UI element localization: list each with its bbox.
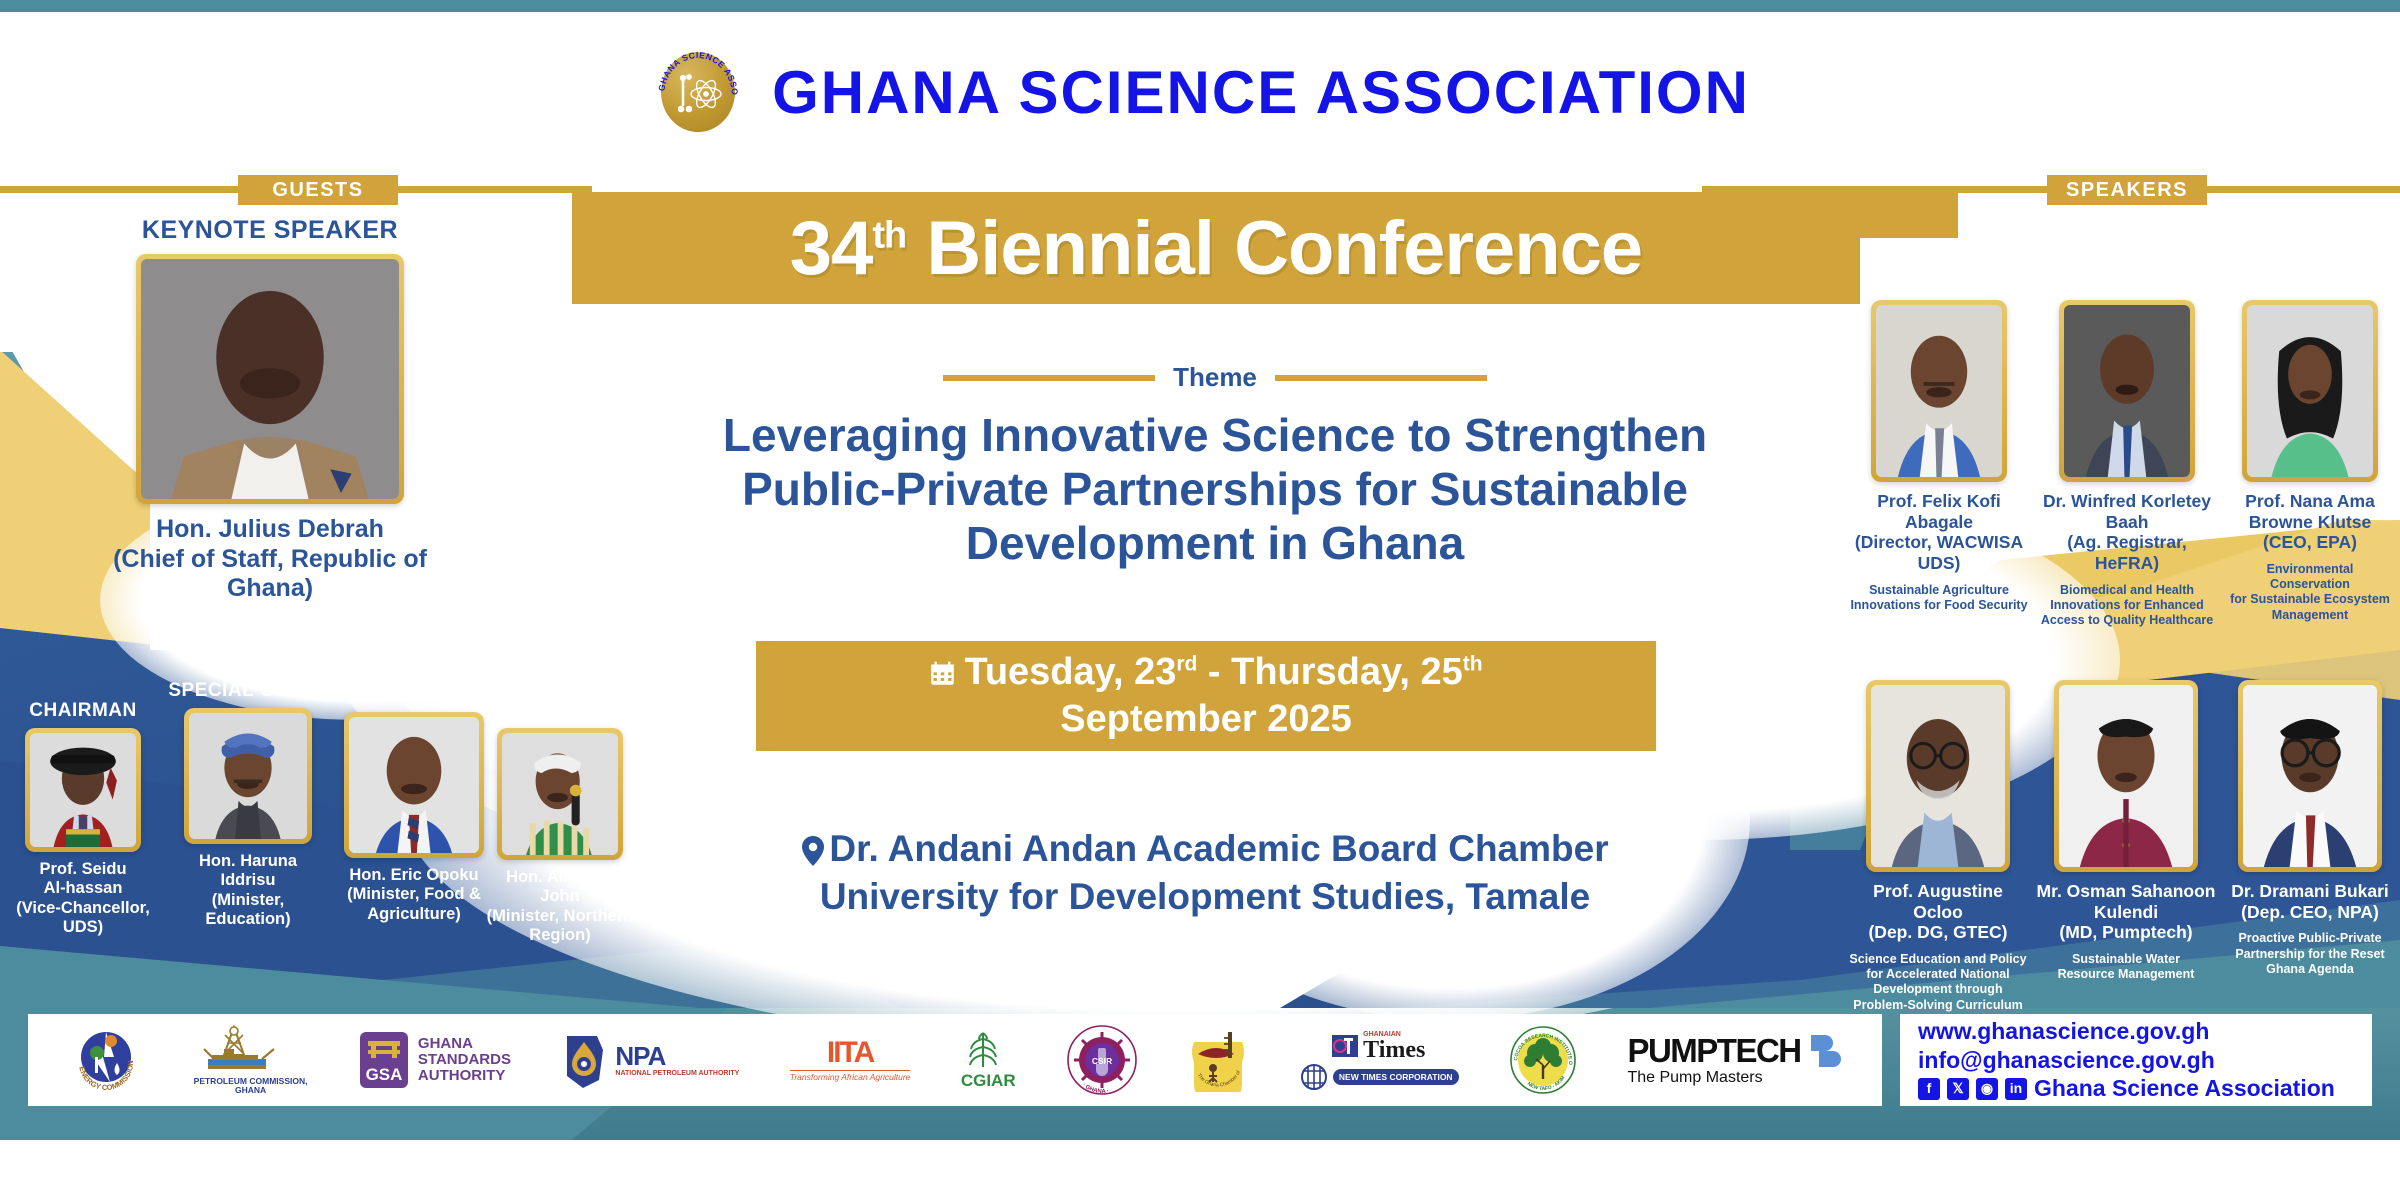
guest-name: Hon. Ali Adolf John (Minister, Northern … [478, 868, 642, 946]
speaker-topic: Science Education and Policy for Acceler… [1848, 952, 2028, 1013]
event-date: Tuesday, 23rd - Thursday, 25th September… [929, 649, 1482, 744]
speaker-topic-line1: Science Education and Policy [1848, 952, 2028, 967]
sponsor-logo-strip: ENERGY COMMISSION PETROLEUM COMMISSION, [28, 1014, 1882, 1106]
speaker-topic-line1: Environmental Conservation [2226, 562, 2394, 593]
speaker-photo-frame [2054, 680, 2198, 872]
speaker-topic-line3: Ghana Agenda [2224, 962, 2396, 977]
theme-line-3: Development in Ghana [660, 517, 1770, 571]
social-handle: Ghana Science Association [2034, 1074, 2335, 1103]
speaker-card-6: Dr. Dramani Bukari (Dep. CEO, NPA) Proac… [2224, 680, 2396, 977]
speaker-topic-line4: Problem-Solving Curriculum [1848, 998, 2028, 1013]
guest-name-line2: John [478, 887, 642, 906]
pumptech-mark-icon [1807, 1033, 1841, 1067]
guest-tag: SPECIAL GUEST [326, 684, 502, 706]
speaker-name-line1: Prof. Augustine [1848, 881, 2028, 902]
sponsor-logo-new-times-corporation: GHANAIAN Times NEW TIMES CORPORATION [1299, 1031, 1459, 1090]
pumptech-tagline: The Pump Masters [1627, 1069, 1840, 1087]
theme-rule-right [1275, 375, 1487, 381]
conference-poster: GHANA SCIENCE ASSOCIATION GHANA SCIENCE … [0, 0, 2400, 1200]
speaker-portrait-6 [2243, 685, 2377, 867]
speaker-photo [2243, 685, 2377, 867]
keynote-photo [141, 259, 399, 499]
speaker-photo-frame [1866, 680, 2010, 872]
speaker-topic-line2: Innovations for Food Security [1850, 598, 2028, 613]
guest-portrait-1 [30, 733, 136, 847]
speaker-portrait-4 [1871, 685, 2005, 867]
social-row: f 𝕏 ◉ in Ghana Science Association [1918, 1074, 2372, 1103]
event-date-start-suffix: rd [1176, 652, 1197, 675]
sponsor-logo-iita: IITA Transforming African Agriculture [790, 1038, 911, 1082]
speaker-role: (CEO, EPA) [2226, 532, 2394, 553]
guest-photo [349, 717, 479, 853]
conference-title-band: 34th Biennial Conference [572, 192, 1860, 304]
keynote-role-text: (Chief of Staff, Republic of Ghana) [110, 545, 430, 604]
speaker-portrait-1 [1876, 305, 2002, 477]
speaker-name-line2: Baah [2038, 512, 2216, 533]
speaker-photo-frame [2238, 680, 2382, 872]
poster-header: GHANA SCIENCE ASSOCIATION GHANA SCIENCE … [0, 12, 2400, 172]
venue-name: Dr. Andani Andan Academic Board Chamber [829, 828, 1608, 869]
top-accent-bar [0, 0, 2400, 12]
venue-line-2: University for Development Studies, Tama… [640, 873, 1770, 921]
speaker-name-line2: Kulendi [2036, 902, 2216, 923]
guest-tag: SPECIAL GUEST [478, 700, 642, 722]
theme-heading: Theme [660, 362, 1770, 393]
guest-portrait-3 [349, 717, 479, 853]
ntc-globe-icon [1299, 1064, 1329, 1090]
sponsor-logo-crig: COCOA RESEARCH INSTITUTE OF GHANA NEW TA… [1509, 1025, 1577, 1095]
keynote-tag: KEYNOTE SPEAKER [110, 216, 430, 245]
sponsor-logo-petroleum-commission: PETROLEUM COMMISSION, GHANA [194, 1025, 308, 1095]
speaker-portrait-2 [2064, 305, 2190, 477]
speaker-role: (Dep. DG, GTEC) [1848, 922, 2028, 943]
guest-card-special-3: SPECIAL GUEST [478, 700, 642, 946]
energy-commission-icon: ENERGY COMMISSION [69, 1023, 143, 1097]
guest-role-line1: (Minister, Food & [326, 885, 502, 904]
speaker-name: Prof. Augustine Ocloo (Dep. DG, GTEC) [1848, 881, 2028, 943]
ntc-label: NEW TIMES CORPORATION [1333, 1069, 1459, 1085]
speaker-card-4: Prof. Augustine Ocloo (Dep. DG, GTEC) Sc… [1848, 680, 2028, 1013]
speaker-role: (Ag. Registrar, HeFRA) [2038, 532, 2216, 573]
speaker-photo-frame [2059, 300, 2195, 482]
guest-name: Prof. Seidu Al-hassan (Vice-Chancellor, … [14, 860, 152, 938]
sponsor-logo-ghana-standards-authority: GSA GHANASTANDARDSAUTHORITY [358, 1030, 511, 1090]
speaker-name: Dr. Dramani Bukari (Dep. CEO, NPA) [2224, 881, 2396, 922]
speaker-role: (Director, WACWISA UDS) [1850, 532, 2028, 573]
speaker-name-line2: Ocloo [1848, 902, 2028, 923]
guest-role-line2: Agriculture) [326, 905, 502, 924]
event-date-end: - Thursday, 25 [1197, 651, 1462, 693]
organization-title: GHANA SCIENCE ASSOCIATION [772, 58, 1750, 127]
guest-role-line1: (Minister, Education) [168, 891, 328, 930]
pumptech-label: PUMPTECH [1627, 1034, 1800, 1067]
website-url[interactable]: www.ghanascience.gov.gh [1918, 1017, 2372, 1046]
guest-photo [189, 713, 307, 839]
speaker-topic-line3: Development through [1848, 982, 2028, 997]
speaker-portrait-3 [2247, 305, 2373, 477]
speakers-badge: SPEAKERS [2047, 175, 2207, 205]
keynote-speaker-card: KEYNOTE SPEAKER Hon. Julius Debrah (Chie… [110, 216, 430, 604]
speaker-photo [2064, 305, 2190, 477]
calendar-icon [929, 660, 956, 687]
guest-name-line1: Prof. Seidu [14, 860, 152, 879]
speaker-topic: Proactive Public-Private Partnership for… [2224, 931, 2396, 977]
speaker-card-1: Prof. Felix Kofi Abagale (Director, WACW… [1850, 300, 2028, 613]
speaker-topic-line1: Biomedical and Health [2038, 583, 2216, 598]
speaker-name-line1: Dr. Dramani Bukari [2224, 881, 2396, 902]
speaker-name: Dr. Winfred Korletey Baah (Ag. Registrar… [2038, 491, 2216, 574]
guest-role-line1: (Minister, Northern [478, 907, 642, 926]
guest-photo-frame [25, 728, 141, 852]
iita-label: IITA [790, 1038, 911, 1068]
svg-text:GSA: GSA [365, 1065, 402, 1084]
iita-tagline: Transforming African Agriculture [790, 1070, 911, 1082]
event-date-line-1: Tuesday, 23rd - Thursday, 25th [929, 649, 1482, 697]
theme-label: Theme [1173, 362, 1257, 393]
guest-portrait-4 [502, 733, 618, 855]
speaker-topic: Biomedical and Health Innovations for En… [2038, 583, 2216, 629]
conference-ordinal-suffix: th [872, 214, 906, 256]
event-date-end-suffix: th [1463, 652, 1483, 675]
event-date-start: Tuesday, 23 [964, 651, 1176, 693]
npa-droplet-icon [561, 1030, 607, 1090]
speaker-portrait-5 [2059, 685, 2193, 867]
speaker-name: Prof. Nana Ama Browne Klutse (CEO, EPA) [2226, 491, 2394, 553]
guest-role-line1: (Vice-Chancellor, [14, 899, 152, 918]
instagram-icon[interactable]: ◉ [1976, 1078, 1998, 1100]
guest-name-line1: Hon. Haruna [168, 852, 328, 871]
theme-line-2: Public-Private Partnerships for Sustaina… [660, 463, 1770, 517]
speaker-topic-line1: Proactive Public-Private [2224, 931, 2396, 946]
location-pin-icon [801, 836, 825, 866]
crig-icon: COCOA RESEARCH INSTITUTE OF GHANA NEW TA… [1509, 1025, 1577, 1095]
speaker-topic-line1: Sustainable Water [2036, 952, 2216, 967]
sponsor-logo-ghana-chamber-of-mines: The Ghana Chamber of Mines [1188, 1028, 1248, 1092]
npa-label: NPA [615, 1043, 739, 1070]
svg-text:CSIR: CSIR [1092, 1056, 1112, 1066]
linkedin-icon[interactable]: in [2005, 1078, 2027, 1100]
speaker-topic: Environmental Conservation for Sustainab… [2226, 562, 2394, 623]
speaker-name-line2: Abagale [1850, 512, 2028, 533]
speaker-name: Prof. Felix Kofi Abagale (Director, WACW… [1850, 491, 2028, 574]
conference-ordinal: 34 [790, 206, 873, 291]
speaker-photo [1876, 305, 2002, 477]
gold-flank-right [1860, 186, 1958, 238]
npa-sublabel: NATIONAL PETROLEUM AUTHORITY [615, 1070, 739, 1077]
speaker-photo [1871, 685, 2005, 867]
speaker-name-line1: Dr. Winfred Korletey [2038, 491, 2216, 512]
guest-tag: SPECIAL GUEST [168, 680, 328, 702]
speaker-name-line1: Prof. Felix Kofi [1850, 491, 2028, 512]
petroleum-commission-label: PETROLEUM COMMISSION, GHANA [194, 1077, 308, 1095]
speaker-photo [2059, 685, 2193, 867]
guest-photo-frame [344, 712, 484, 858]
guest-name-line2: Al-hassan [14, 879, 152, 898]
guest-role-line2: Region) [478, 926, 642, 945]
guest-tag: CHAIRMAN [14, 700, 152, 722]
svg-text:· GHANA ·: · GHANA · [1081, 1082, 1110, 1095]
speaker-topic-line2: Partnership for the Reset [2224, 947, 2396, 962]
x-twitter-icon[interactable]: 𝕏 [1947, 1078, 1969, 1100]
cgiar-label: CGIAR [961, 1071, 1016, 1091]
guest-name: Hon. Haruna Iddrisu (Minister, Education… [168, 852, 328, 930]
speaker-topic-line1: Sustainable Agriculture [1850, 583, 2028, 598]
guest-photo [30, 733, 136, 847]
speaker-topic-line2: Innovations for Enhanced [2038, 598, 2216, 613]
conference-title-main: Biennial Conference [926, 206, 1642, 291]
speaker-role: (MD, Pumptech) [2036, 922, 2216, 943]
keynote-name-text: Hon. Julius Debrah [110, 515, 430, 545]
speaker-photo-frame [1871, 300, 2007, 482]
guest-photo [502, 733, 618, 855]
ghanaian-times-mark-icon [1332, 1035, 1358, 1057]
conference-title: 34th Biennial Conference [790, 205, 1642, 292]
sponsor-logo-cgiar: CGIAR [961, 1029, 1016, 1091]
guest-name-line2: Iddrisu [168, 871, 328, 890]
theme-line-1: Leveraging Innovative Science to Strengt… [660, 409, 1770, 463]
sponsor-logo-pumptech: PUMPTECH The Pump Masters [1627, 1033, 1840, 1087]
speaker-card-5: Mr. Osman Sahanoon Kulendi (MD, Pumptech… [2036, 680, 2216, 982]
speaker-topic-line3: Access to Quality Healthcare [2038, 613, 2216, 628]
speaker-topic: Sustainable Water Resource Management [2036, 952, 2216, 983]
keynote-photo-frame [136, 254, 404, 504]
speaker-topic-line2: for Sustainable Ecosystem [2226, 592, 2394, 607]
speaker-role: (Dep. CEO, NPA) [2224, 902, 2396, 923]
sponsor-logo-npa: NPA NATIONAL PETROLEUM AUTHORITY [561, 1030, 739, 1090]
sponsor-logo-energy-commission: ENERGY COMMISSION [69, 1023, 143, 1097]
speaker-topic: Sustainable Agriculture Innovations for … [1850, 583, 2028, 614]
speaker-name-line1: Prof. Nana Ama [2226, 491, 2394, 512]
theme-section: Theme Leveraging Innovative Science to S… [660, 362, 1770, 570]
guest-photo-frame [497, 728, 623, 860]
guest-photo-frame [184, 708, 312, 844]
guest-card-special-2: SPECIAL GUEST Hon. Eric Opoku (Minister,… [326, 684, 502, 924]
keynote-name: Hon. Julius Debrah (Chief of Staff, Repu… [110, 515, 430, 604]
guest-name-line1: Hon. Eric Opoku [326, 866, 502, 885]
speaker-card-3: Prof. Nana Ama Browne Klutse (CEO, EPA) … [2226, 300, 2394, 623]
event-venue: Dr. Andani Andan Academic Board Chamber … [640, 825, 1770, 921]
guest-card-chairman: CHAIRMAN Prof. Seidu Al-hassan [14, 700, 152, 938]
venue-line-1: Dr. Andani Andan Academic Board Chamber [640, 825, 1770, 873]
theme-rule-left [943, 375, 1155, 381]
event-date-line-2: September 2025 [929, 696, 1482, 744]
guest-portrait-2 [189, 713, 307, 839]
speaker-topic-line2: for Accelerated National [1848, 967, 2028, 982]
contact-block: www.ghanascience.gov.gh info@ghanascienc… [1900, 1014, 2372, 1106]
event-date-box: Tuesday, 23rd - Thursday, 25th September… [756, 641, 1656, 751]
petroleum-rig-icon [194, 1025, 286, 1077]
csir-icon: CSIR · GHANA · [1066, 1024, 1138, 1096]
gsa-logo-art: GHANA SCIENCE ASSOCIATION [650, 44, 746, 140]
speaker-name-line1: Mr. Osman Sahanoon [2036, 881, 2216, 902]
gsa-mark-icon: GSA [358, 1030, 410, 1090]
bottom-white-margin [0, 1140, 2400, 1200]
gsa-crest-logo: GHANA SCIENCE ASSOCIATION [650, 44, 746, 140]
guest-name-line1: Hon. Ali Adolf [478, 868, 642, 887]
chamber-of-mines-icon: The Ghana Chamber of Mines [1188, 1028, 1248, 1092]
speaker-photo-frame [2242, 300, 2378, 482]
times-label: Times [1363, 1038, 1425, 1062]
theme-text: Leveraging Innovative Science to Strengt… [660, 409, 1770, 570]
speaker-topic-line3: Management [2226, 608, 2394, 623]
speaker-card-2: Dr. Winfred Korletey Baah (Ag. Registrar… [2038, 300, 2216, 628]
gsa-label: GHANASTANDARDSAUTHORITY [418, 1036, 511, 1083]
speaker-topic-line2: Resource Management [2036, 967, 2216, 982]
speaker-photo [2247, 305, 2373, 477]
cgiar-wheat-icon [961, 1029, 1005, 1071]
svg-text:GHANA SCIENCE ASSOCIATION: GHANA SCIENCE ASSOCIATION [650, 44, 740, 96]
facebook-icon[interactable]: f [1918, 1078, 1940, 1100]
guest-name: Hon. Eric Opoku (Minister, Food & Agricu… [326, 866, 502, 924]
guest-role-line2: UDS) [14, 918, 152, 937]
guests-badge: GUESTS [238, 175, 398, 205]
speaker-name-line2: Browne Klutse [2226, 512, 2394, 533]
guest-card-special-1: SPECIAL GUEST Hon. Haruna Iddrisu (Minis… [168, 680, 328, 930]
speaker-name: Mr. Osman Sahanoon Kulendi (MD, Pumptech… [2036, 881, 2216, 943]
contact-email[interactable]: info@ghanascience.gov.gh [1918, 1046, 2372, 1075]
keynote-portrait [141, 259, 399, 499]
sponsor-logo-csir: CSIR · GHANA · [1066, 1024, 1138, 1096]
